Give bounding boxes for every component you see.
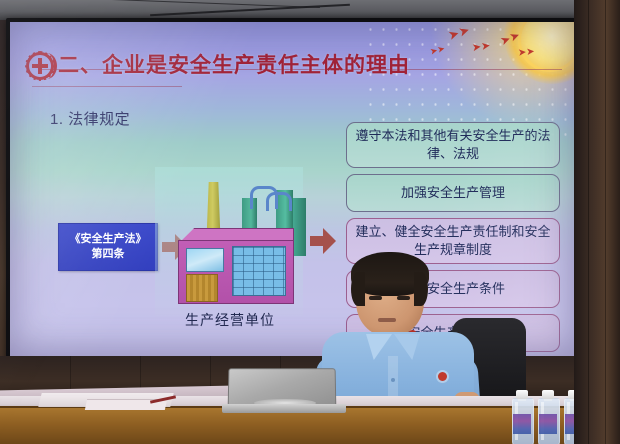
factory-window-grid — [232, 246, 286, 296]
slide-subtitle: 1. 法律规定 — [50, 108, 130, 129]
wheat-icon — [40, 53, 57, 79]
bottle-label — [539, 414, 557, 434]
lapel-pin-icon — [438, 372, 447, 381]
bottle-cap — [516, 390, 528, 399]
safety-emblem-icon — [26, 52, 54, 80]
requirement-box-1: 遵守本法和其他有关安全生产的法律、法规 — [346, 122, 560, 168]
eye — [369, 296, 382, 300]
requirement-text: 遵守本法和其他有关安全生产的法律、法规 — [355, 127, 551, 162]
slide-title: 二、企业是安全生产责任主体的理由 — [58, 49, 410, 79]
title-underline-secondary — [32, 86, 182, 87]
bird-icon: ➤➤ — [518, 47, 536, 58]
wall-panel-line — [588, 0, 589, 444]
law-reference-box: 《安全生产法》 第四条 — [58, 223, 158, 271]
projected-slide: ➤➤ ➤➤ ➤➤ ➤➤ ➤➤ 二、企业是安全生产责任主体的理由 1. 法律规定 … — [10, 22, 574, 358]
eye — [397, 296, 410, 300]
tower-icon — [293, 198, 306, 256]
pipe-icon — [266, 192, 292, 211]
arrow-right-icon — [310, 228, 336, 254]
hair-side — [414, 272, 428, 306]
wall-panel-line — [605, 0, 606, 444]
law-reference-line2: 第四条 — [92, 247, 125, 262]
mouth — [378, 318, 396, 322]
hair-side — [351, 272, 365, 306]
water-bottle — [538, 388, 558, 444]
requirement-text: 加强安全生产管理 — [401, 184, 505, 202]
ceiling-seam-secondary — [150, 4, 350, 16]
factory-door — [186, 274, 218, 302]
shirt-button — [391, 378, 395, 382]
right-wall-panel — [574, 0, 620, 444]
screenshot-root: ➤➤ ➤➤ ➤➤ ➤➤ ➤➤ 二、企业是安全生产责任主体的理由 1. 法律规定 … — [0, 0, 620, 444]
laptop-base — [222, 404, 346, 413]
bottle-label — [513, 414, 531, 434]
bottle-cap — [542, 390, 554, 399]
diagram-caption: 生产经营单位 — [155, 310, 305, 330]
requirement-box-2: 加强安全生产管理 — [346, 174, 560, 212]
factory-window — [186, 248, 224, 272]
water-bottle — [512, 388, 532, 444]
law-reference-line1: 《安全生产法》 — [70, 232, 147, 247]
